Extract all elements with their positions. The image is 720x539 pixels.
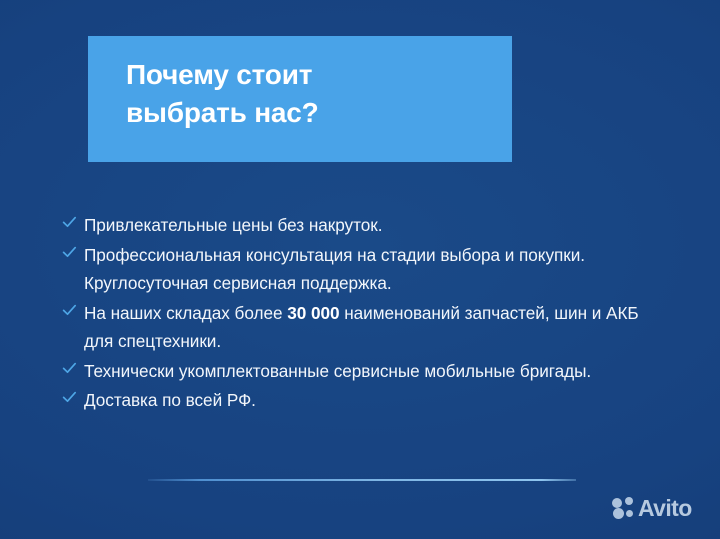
benefit-item: Профессиональная консультация на стадии …: [62, 241, 662, 298]
check-icon: [62, 241, 84, 260]
divider-line: [148, 479, 576, 481]
title-banner: Почему стоит выбрать нас?: [88, 36, 512, 162]
slide-canvas: Почему стоит выбрать нас? Привлекательны…: [0, 0, 720, 539]
check-icon: [62, 211, 84, 230]
check-icon: [62, 299, 84, 318]
avito-dots-icon: [612, 497, 636, 519]
benefit-item-text: Технически укомплектованные сервисные мо…: [84, 357, 662, 386]
avito-watermark: Avito: [612, 497, 692, 519]
benefit-highlight-number: 30 000: [287, 303, 339, 323]
check-icon: [62, 357, 84, 376]
check-icon: [62, 386, 84, 405]
benefit-item-text: Доставка по всей РФ.: [84, 386, 662, 415]
page-title-line-1: Почему стоит: [126, 56, 512, 94]
avito-wordmark: Avito: [638, 497, 692, 519]
benefit-item: На наших складах более 30 000 наименован…: [62, 299, 662, 356]
benefit-item-text: На наших складах более 30 000 наименован…: [84, 299, 662, 356]
page-title-line-2: выбрать нас?: [126, 94, 512, 132]
benefit-item: Технически укомплектованные сервисные мо…: [62, 357, 662, 386]
benefit-item: Привлекательные цены без накруток.: [62, 211, 662, 240]
benefit-item: Доставка по всей РФ.: [62, 386, 662, 415]
benefit-item-text: Профессиональная консультация на стадии …: [84, 241, 662, 298]
benefit-item-text: Привлекательные цены без накруток.: [84, 211, 662, 240]
benefits-list: Привлекательные цены без накруток.Профес…: [62, 211, 662, 416]
